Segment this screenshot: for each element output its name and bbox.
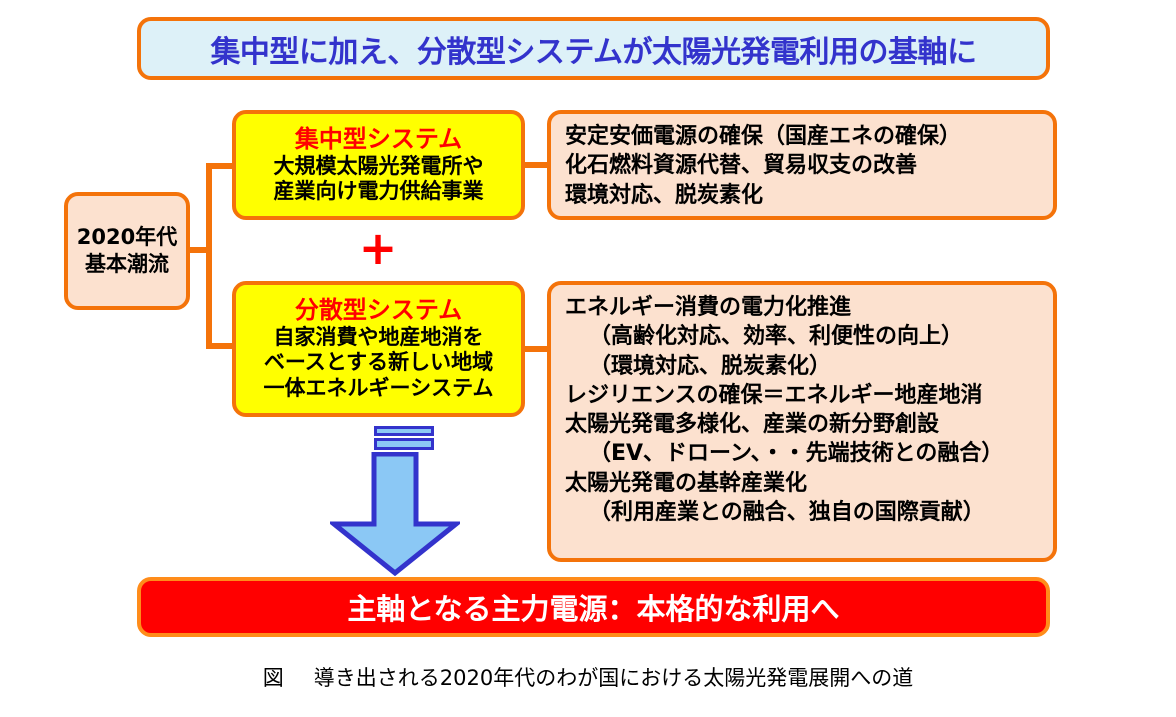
trend-line-2: 基本潮流 [85,251,169,278]
distributed-benefit-1: エネルギー消費の電力化推進 [565,293,1039,322]
distributed-benefit-7: 太陽光発電の基幹産業化 [565,469,1039,498]
distributed-system-box: 分散型システム 自家消費や地産地消を ベースとする新しい地域 一体エネルギーシス… [232,281,525,417]
distributed-system-line-3: 一体エネルギーシステム [264,376,494,402]
centralized-system-heading: 集中型システム [295,125,462,153]
distributed-benefits-box: エネルギー消費の電力化推進 （高齢化対応、効率、利便性の向上） （環境対応、脱炭… [547,281,1057,562]
distributed-benefit-2: （高齢化対応、効率、利便性の向上） [565,322,1039,351]
centralized-benefits-box: 安定安価電源の確保（国産エネの確保） 化石燃料資源代替、貿易収支の改善 環境対応… [547,110,1057,220]
caption-text: 導き出される2020年代のわが国における太陽光発電展開への道 [314,666,913,690]
distributed-benefit-4: レジリエンスの確保＝エネルギー地産地消 [565,381,1039,410]
centralized-system-line-2: 産業向け電力供給事業 [274,179,484,205]
distributed-benefit-5: 太陽光発電多様化、産業の新分野創設 [565,410,1039,439]
distributed-benefit-3: （環境対応、脱炭素化） [565,352,1039,381]
distributed-system-line-1: 自家消費や地産地消を [274,325,484,351]
trend-line-1: 2020年代 [77,224,177,251]
diagram-canvas: 集中型に加え、分散型システムが太陽光発電利用の基軸に 2020年代 基本潮流 集… [0,0,1176,717]
distributed-benefit-6: （EV、ドローン、・・先端技術との融合） [565,439,1039,468]
centralized-system-line-1: 大規模太陽光発電所や [274,154,484,180]
plus-symbol: + [355,225,401,271]
arrow-stripe-second-icon [374,438,434,450]
arrow-stripe-top-icon [374,426,434,436]
title-banner: 集中型に加え、分散型システムが太陽光発電利用の基軸に [137,17,1050,80]
caption-label: 図 [263,666,314,690]
down-arrow-icon [330,452,460,576]
connector-vertical-bracket [206,163,212,349]
centralized-benefit-1: 安定安価電源の確保（国産エネの確保） [565,122,1039,151]
figure-caption: 図導き出される2020年代のわが国における太陽光発電展開への道 [0,662,1176,692]
title-text: 集中型に加え、分散型システムが太陽光発電利用の基軸に [210,27,976,71]
result-text: 主軸となる主力電源：本格的な利用へ [347,586,839,628]
trend-box: 2020年代 基本潮流 [64,192,190,310]
centralized-system-box: 集中型システム 大規模太陽光発電所や 産業向け電力供給事業 [232,110,525,220]
result-banner: 主軸となる主力電源：本格的な利用へ [137,577,1050,637]
centralized-benefit-2: 化石燃料資源代替、貿易収支の改善 [565,151,1039,180]
centralized-benefit-3: 環境対応、脱炭素化 [565,181,1039,210]
distributed-system-line-2: ベースとする新しい地域 [264,350,493,376]
distributed-benefit-8: （利用産業との融合、独自の国際貢献） [565,498,1039,527]
down-arrow-group [330,424,460,576]
distributed-system-heading: 分散型システム [295,296,462,324]
